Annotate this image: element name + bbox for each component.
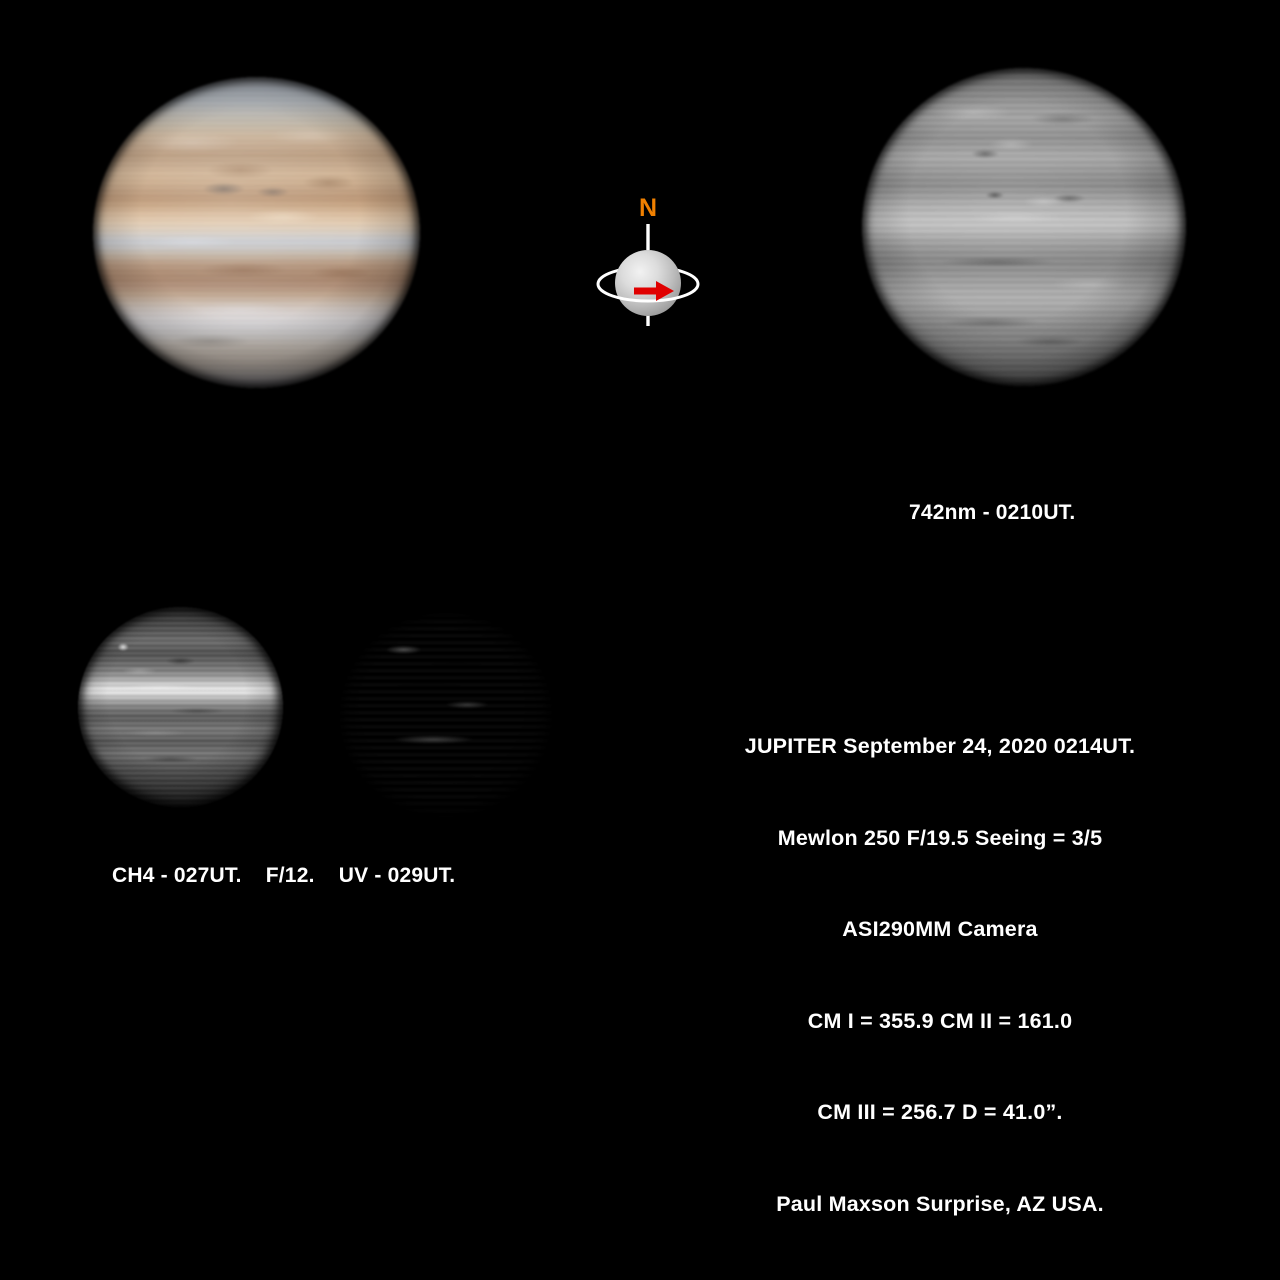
uv-cloud-features (340, 613, 552, 817)
ir-illumination (862, 68, 1186, 386)
jupiter-rgb-disc (93, 77, 420, 388)
north-label: N (578, 196, 718, 221)
info-line-camera: ASI290MM Camera (640, 914, 1240, 945)
label-742nm: 742nm - 0210UT. (909, 501, 1075, 525)
orientation-key: N (578, 196, 718, 336)
observation-info-block: JUPITER September 24, 2020 0214UT. Mewlo… (640, 670, 1240, 1280)
rgb-illumination (93, 77, 420, 388)
label-ch4-uv: CH4 - 027UT. F/12. UV - 029UT. (112, 864, 455, 888)
image-canvas: N (0, 0, 1280, 1000)
info-line-cm3-diam: CM III = 256.7 D = 41.0”. (640, 1097, 1240, 1128)
info-line-observer: Paul Maxson Surprise, AZ USA. (640, 1189, 1240, 1220)
jupiter-ch4-disc (78, 607, 283, 807)
info-line-telescope: Mewlon 250 F/19.5 Seeing = 3/5 (640, 823, 1240, 854)
ch4-cloud-features (78, 607, 283, 807)
jupiter-uv-disc (340, 613, 552, 817)
globe-sphere (615, 250, 681, 316)
info-line-cm1-cm2: CM I = 355.9 CM II = 161.0 (640, 1006, 1240, 1037)
jupiter-742nm-disc (862, 68, 1186, 386)
info-line-target-date: JUPITER September 24, 2020 0214UT. (640, 731, 1240, 762)
